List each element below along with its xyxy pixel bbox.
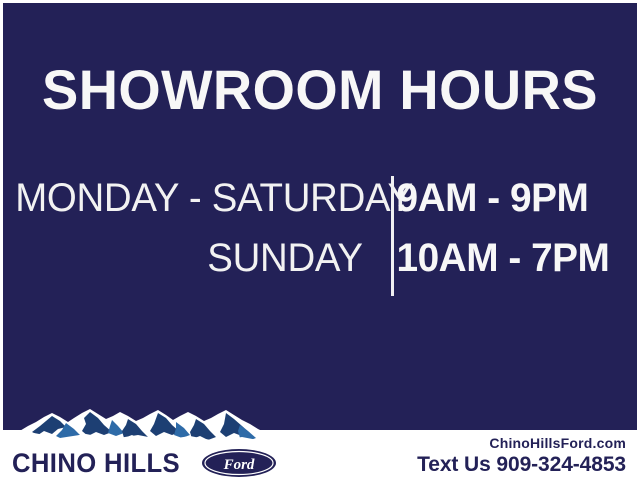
hours-days-label: MONDAY - SATURDAY (15, 178, 380, 218)
website-text[interactable]: ChinoHillsFord.com (417, 434, 626, 452)
hours-days-label: SUNDAY (15, 238, 380, 278)
phone-text[interactable]: Text Us 909-324-4853 (417, 452, 626, 478)
logo-wordmark-row: CHINO HILLS Ford (12, 447, 277, 479)
hours-table: MONDAY - SATURDAY 9AM - 9PM SUNDAY 10AM … (0, 178, 640, 298)
page-title: SHOWROOM HOURS (10, 62, 631, 118)
contact-block: ChinoHillsFord.com Text Us 909-324-4853 (417, 434, 626, 478)
dealership-logo: CHINO HILLS Ford (8, 405, 268, 480)
dealership-name: CHINO HILLS (12, 450, 180, 477)
mountain-range-icon (8, 405, 268, 447)
ford-logo-icon: Ford (201, 448, 277, 478)
showroom-hours-sign: SHOWROOM HOURS MONDAY - SATURDAY 9AM - 9… (0, 0, 640, 480)
hours-row: MONDAY - SATURDAY 9AM - 9PM (0, 178, 640, 238)
hours-row: SUNDAY 10AM - 7PM (0, 238, 640, 298)
hours-column-divider (391, 176, 394, 296)
svg-text:Ford: Ford (222, 457, 254, 473)
hours-time-value: 10AM - 7PM (380, 238, 632, 278)
hours-time-value: 9AM - 9PM (380, 178, 632, 218)
